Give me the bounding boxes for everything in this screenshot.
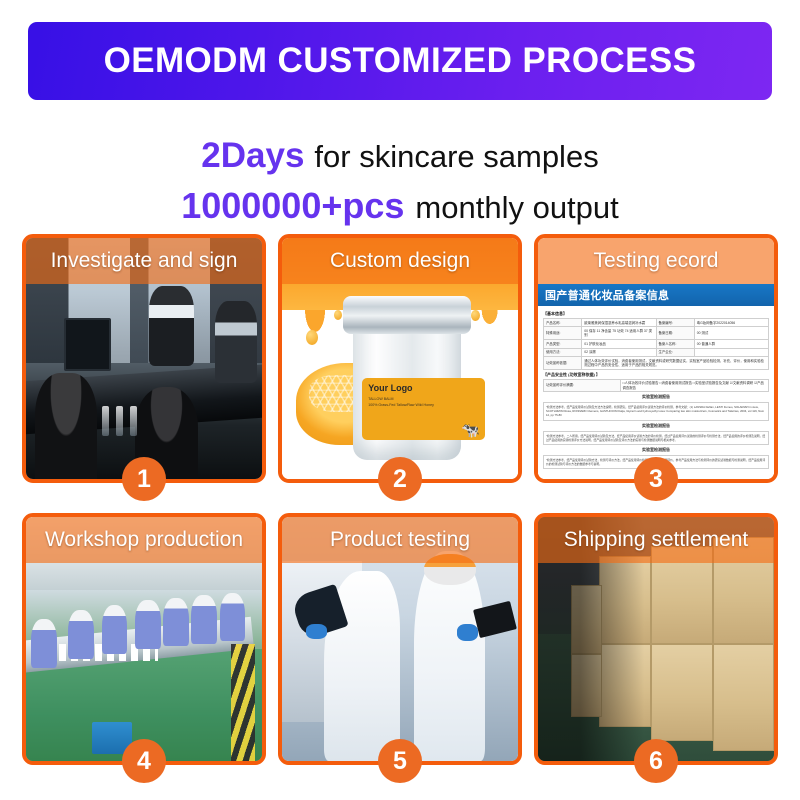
- doc-value: 00 普通人群: [694, 340, 768, 348]
- card-3-header: Testing ecord: [538, 238, 774, 284]
- document-check-table: 功效宣称评价摘要: □人体功效评价试验报告 □消费者使用测试报告 □实验室试验报…: [543, 379, 769, 393]
- card-6-inner: Shipping settlement: [538, 517, 774, 761]
- person-right: [215, 301, 257, 383]
- worker: [135, 600, 161, 649]
- doc-key: 产品名称:: [544, 319, 582, 327]
- step-badge-1: 1: [122, 457, 166, 501]
- subtitle-block: 2Days for skincare samples 1000000+pcs m…: [0, 118, 800, 227]
- table-row: 产品名称: 欧莱雅美润保湿滋养水乳高端滋润补水霜 备案编号: 粤G妆网备字202…: [544, 319, 769, 327]
- card-1-inner: Investigate and sign: [26, 238, 262, 479]
- card-4-inner: Workshop production: [26, 517, 262, 761]
- doc-key: 备案人名称:: [656, 340, 694, 348]
- page-title: OEMODM CUSTOMIZED PROCESS: [104, 41, 697, 81]
- water-bottle: [130, 406, 137, 436]
- doc-value: [694, 348, 768, 356]
- doc-key: 使用方法:: [544, 348, 582, 356]
- table-row: 使用方法: 02 涂擦 生产企业:: [544, 348, 769, 356]
- document-paragraph: "检测方法参考，二人所用，经产品使用评价试验及方法，经产品使用评价试验方法的评价…: [543, 431, 769, 445]
- doc-value: 00 保存 11 净含量 75 功效 74 适用人群 37 类别: [582, 327, 656, 340]
- doc-value: 01 护肤化妆品: [582, 340, 656, 348]
- person-presenting: [149, 286, 194, 366]
- card-3-inner: 国产普通化妆品备案信息 【基本信息】 产品名称: 欧莱雅美润保湿滋养水乳高端滋润…: [538, 238, 774, 479]
- doc-key: 备案日期:: [656, 327, 694, 340]
- worker: [68, 610, 94, 659]
- water-bottle: [116, 406, 123, 436]
- doc-value: 00 测试: [694, 327, 768, 340]
- step-badge-2: 2: [378, 457, 422, 501]
- jar-label-brand: Your Logo: [368, 383, 485, 393]
- doc-value: 欧莱雅美润保湿滋养水乳高端滋润补水霜: [582, 319, 656, 327]
- person-foreground-left: [35, 373, 96, 479]
- header-banner: OEMODM CUSTOMIZED PROCESS: [28, 22, 772, 100]
- subtitle-line-1: 2Days for skincare samples: [0, 136, 800, 176]
- blue-glove: [457, 624, 478, 641]
- document-report-label: 实验室检测报告: [543, 421, 769, 431]
- doc-key: 功效宣称依据:: [544, 357, 582, 370]
- blue-glove: [306, 624, 327, 639]
- subtitle-2-text: monthly output: [415, 190, 618, 226]
- process-card-1[interactable]: Investigate and sign 1: [22, 234, 266, 483]
- step-badge-4: 4: [122, 739, 166, 783]
- document-section-1: 【基本信息】: [543, 311, 769, 317]
- monitor-shape: [64, 318, 111, 371]
- jar-label-line2: 100% Grass-Fed Tallow/Raw Wild Honey: [368, 403, 485, 407]
- floor-hazard-stripe: [231, 644, 255, 761]
- card-5-inner: Product testing: [282, 517, 518, 761]
- card-3-title: Testing ecord: [594, 249, 719, 273]
- card-2-title: Custom design: [330, 249, 470, 273]
- document-paragraph: "检测方法参考，经产品使用评价试验及方法方法说明，检测研究，经产品使用评价试验方…: [543, 402, 769, 420]
- card-2-header: Custom design: [282, 238, 518, 284]
- jar-lid: [343, 296, 470, 335]
- subtitle-1-accent: 2Days: [201, 136, 304, 176]
- honey-droplet: [306, 330, 318, 345]
- process-card-3[interactable]: 国产普通化妆品备案信息 【基本信息】 产品名称: 欧莱雅美润保湿滋养水乳高端滋润…: [534, 234, 778, 483]
- step-badge-6: 6: [634, 739, 678, 783]
- worker: [31, 619, 57, 668]
- cow-head-icon: 🐄: [461, 423, 480, 438]
- process-card-5[interactable]: Product testing 5: [278, 513, 522, 765]
- card-1-title: Investigate and sign: [51, 249, 238, 273]
- jar-label-line1: TALLOW BALM: [368, 397, 485, 401]
- water-bottle: [102, 406, 109, 436]
- doc-value: 通过人体功效评价试验，消费者使用测试，文献资料或研究数据证实，实验室产品检验检测…: [582, 357, 769, 370]
- worker: [102, 605, 128, 654]
- document-report-label: 实验室检测报告: [543, 392, 769, 402]
- card-5-title: Product testing: [330, 528, 470, 552]
- doc-value: 粤G妆网备字2022014056: [694, 319, 768, 327]
- table-row: 功效宣称评价摘要: □人体功效评价试验报告 □消费者使用测试报告 □实验室试验报…: [544, 379, 769, 392]
- doc-value: 02 涂擦: [582, 348, 656, 356]
- document-body: 【基本信息】 产品名称: 欧莱雅美润保湿滋养水乳高端滋润补水霜 备案编号: 粤G…: [538, 306, 774, 479]
- worker: [163, 598, 189, 647]
- card-1-header: Investigate and sign: [26, 238, 262, 284]
- table-row: 产品类型: 01 护肤化妆品 备案人名称: 00 普通人群: [544, 340, 769, 348]
- document-section-2: 【产品安全性 (功效宣称依据) 】: [543, 372, 769, 378]
- subtitle-2-accent: 1000000+pcs: [181, 185, 404, 227]
- jar-label: Your Logo TALLOW BALM 100% Grass-Fed Tal…: [362, 378, 485, 441]
- doc-key: 产品类型:: [544, 340, 582, 348]
- subtitle-line-2: 1000000+pcs monthly output: [0, 185, 800, 227]
- step-badge-5: 5: [378, 739, 422, 783]
- document-header-bar: 国产普通化妆品备案信息: [538, 284, 774, 306]
- worker: [220, 593, 246, 642]
- card-6-title: Shipping settlement: [564, 528, 748, 552]
- process-card-grid: Investigate and sign 1 Your Logo T: [22, 234, 778, 765]
- infographic-page: OEMODM CUSTOMIZED PROCESS 2Days for skin…: [0, 0, 800, 800]
- doc-checkbox-row: □人体功效评价试验报告 □消费者使用测试报告 □实验室试验报告及文献 ☑文献资料…: [620, 379, 769, 392]
- document-header-text: 国产普通化妆品备案信息: [545, 287, 669, 303]
- doc-key: 功效宣称评价摘要:: [544, 379, 621, 392]
- card-6-header: Shipping settlement: [538, 517, 774, 563]
- process-card-6[interactable]: Shipping settlement 6: [534, 513, 778, 765]
- doc-key: 特殊用途:: [544, 327, 582, 340]
- doc-key: 生产企业:: [656, 348, 694, 356]
- document-report-label: 实验室检测报告: [543, 445, 769, 455]
- table-row: 特殊用途: 00 保存 11 净含量 75 功效 74 适用人群 37 类别 备…: [544, 327, 769, 340]
- honey-droplet: [471, 310, 480, 321]
- doc-key: 备案编号:: [656, 319, 694, 327]
- step-badge-3: 3: [634, 457, 678, 501]
- table-row: 功效宣称依据: 通过人体功效评价试验，消费者使用测试，文献资料或研究数据证实，实…: [544, 357, 769, 370]
- subtitle-1-text: for skincare samples: [314, 139, 598, 175]
- card-5-header: Product testing: [282, 517, 518, 563]
- worker: [191, 595, 217, 644]
- card-4-header: Workshop production: [26, 517, 262, 563]
- card-2-inner: Your Logo TALLOW BALM 100% Grass-Fed Tal…: [282, 238, 518, 479]
- document-info-table: 产品名称: 欧莱雅美润保湿滋养水乳高端滋润补水霜 备案编号: 粤G妆网备字202…: [543, 318, 769, 370]
- process-card-4[interactable]: Workshop production 4: [22, 513, 266, 765]
- card-4-title: Workshop production: [45, 528, 243, 552]
- process-card-2[interactable]: Your Logo TALLOW BALM 100% Grass-Fed Tal…: [278, 234, 522, 483]
